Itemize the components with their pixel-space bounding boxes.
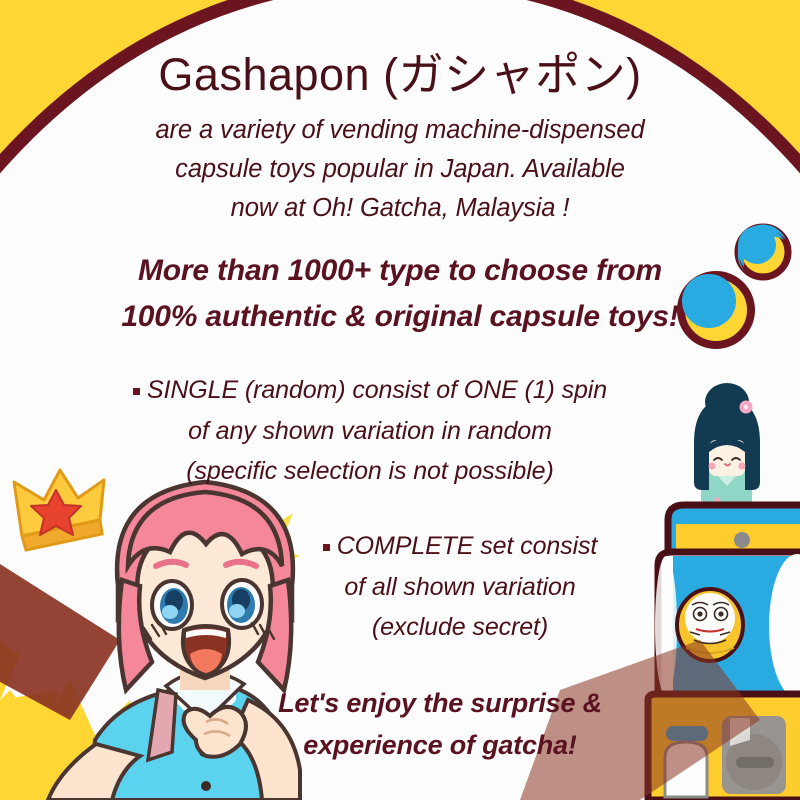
- poster-canvas: Gashapon (ガシャポン) are a variety of vendin…: [0, 0, 800, 800]
- bullet-single-line-3: (specific selection is not possible): [0, 459, 740, 484]
- closing-line-1: Let's enjoy the surprise &: [40, 690, 800, 717]
- highlight-line-2: 100% authentic & original capsule toys!: [0, 302, 800, 332]
- intro-line-2: capsule toys popular in Japan. Available: [0, 157, 800, 183]
- text-content: Gashapon (ガシャポン) are a variety of vendin…: [0, 0, 800, 800]
- bullet-single-line-1: SINGLE (random) consist of ONE (1) spin: [0, 378, 740, 403]
- intro-line-3: now at Oh! Gatcha, Malaysia !: [0, 196, 800, 222]
- highlight-line-1: More than 1000+ type to choose from: [0, 256, 800, 286]
- square-bullet-icon: [133, 388, 140, 395]
- closing-line-2: experience of gatcha!: [40, 732, 800, 759]
- intro-line-1: are a variety of vending machine-dispens…: [0, 118, 800, 144]
- bullet-complete-line-2: of all shown variation: [60, 575, 800, 600]
- page-title: Gashapon (ガシャポン): [0, 52, 800, 97]
- bullet-complete-line-1: COMPLETE set consist: [60, 534, 800, 559]
- square-bullet-icon: [323, 544, 330, 551]
- bullet-complete-text-1: COMPLETE set consist: [337, 532, 598, 560]
- bullet-single-line-2: of any shown variation in random: [0, 419, 740, 444]
- bullet-single-text-1: SINGLE (random) consist of ONE (1) spin: [147, 376, 607, 404]
- bullet-complete-line-3: (exclude secret): [60, 615, 800, 640]
